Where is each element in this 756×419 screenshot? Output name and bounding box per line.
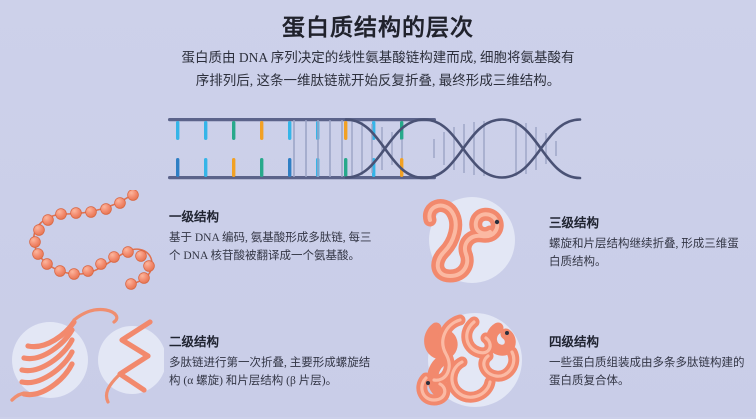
infographic-page: 蛋白质结构的层次 蛋白质由 DNA 序列决定的线性氨基酸链构建而成, 细胞将氨基… — [0, 0, 756, 417]
protein-terminus-dot — [495, 220, 499, 224]
bead-chain-polypeptide-illustration — [2, 190, 164, 294]
section-tertiary-body: 螺旋和片层结构继续折叠, 形成三维蛋白质结构。 — [549, 235, 749, 271]
folded-protein-ribbon-illustration — [404, 190, 544, 290]
section-primary-body: 基于 DNA 编码, 氨基酸形成多肽链, 每三个 DNA 核苷酸被翻译成一个氨基… — [169, 229, 374, 265]
section-primary-title: 一级结构 — [169, 206, 374, 225]
section-quaternary-body: 一些蛋白质组装成由多条多肽链构建的蛋白质复合体。 — [549, 354, 749, 390]
section-primary-structure: 一级结构 基于 DNA 编码, 氨基酸形成多肽链, 每三个 DNA 核苷酸被翻译… — [169, 206, 374, 265]
section-secondary-title: 二级结构 — [169, 331, 374, 350]
section-secondary-body: 多肽链进行第一次折叠, 主要形成螺旋结构 (α 螺旋) 和片层结构 (β 片层)… — [169, 354, 374, 390]
dna-strand-back — [346, 120, 580, 178]
page-title: 蛋白质结构的层次 — [0, 8, 756, 42]
dna-rung-group — [294, 120, 342, 177]
page-subtitle: 蛋白质由 DNA 序列决定的线性氨基酸链构建而成, 细胞将氨基酸有序排列后, 这… — [178, 46, 578, 92]
section-secondary-structure: 二级结构 多肽链进行第一次折叠, 主要形成螺旋结构 (α 螺旋) 和片层结构 (… — [169, 331, 374, 390]
section-quaternary-title: 四级结构 — [549, 331, 749, 350]
section-quaternary-structure: 四级结构 一些蛋白质组装成由多条多肽链构建的蛋白质复合体。 — [549, 331, 749, 390]
section-tertiary-title: 三级结构 — [549, 212, 749, 231]
section-tertiary-structure: 三级结构 螺旋和片层结构继续折叠, 形成三维蛋白质结构。 — [549, 212, 749, 271]
protein-complex-illustration — [402, 306, 548, 414]
alpha-helix-beta-sheet-illustration — [2, 302, 164, 410]
complex-terminus-dot-1 — [505, 331, 509, 335]
complex-terminus-dot-2 — [426, 381, 430, 385]
dna-double-helix-illustration — [166, 112, 598, 186]
